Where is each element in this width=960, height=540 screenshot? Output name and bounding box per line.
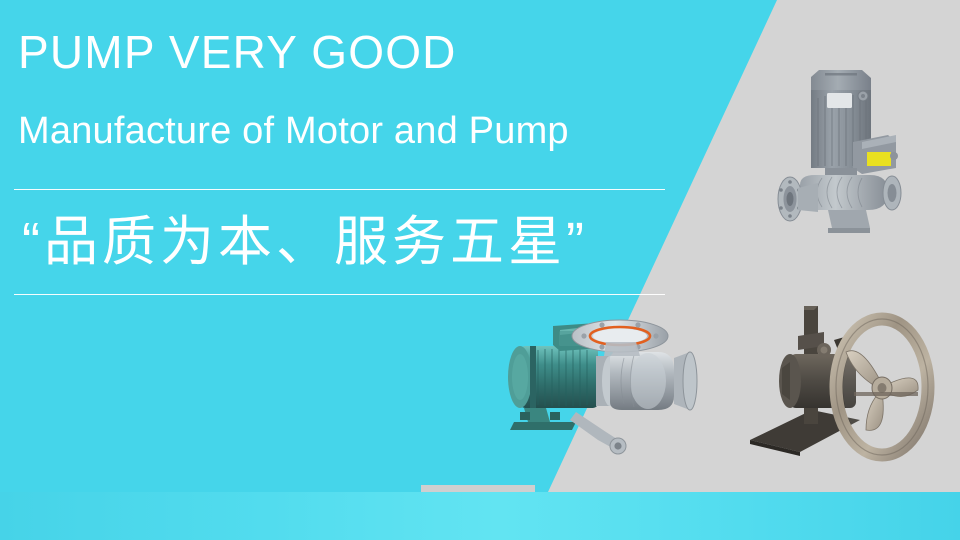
horizontal-centrifugal-pump-image	[498, 300, 713, 465]
vertical-inline-pump-image	[770, 52, 920, 242]
submersible-mixer-image	[742, 292, 947, 464]
bottom-gradient-band	[0, 492, 960, 540]
divider-rule-above-slogan	[14, 189, 665, 190]
product-submersible-mixer	[742, 292, 947, 464]
page-title: PUMP VERY GOOD	[18, 26, 457, 78]
slide-progress-bar[interactable]	[421, 485, 535, 492]
product-inline-pump	[770, 52, 920, 242]
product-horizontal-pump	[498, 300, 713, 465]
page-subtitle: Manufacture of Motor and Pump	[18, 108, 569, 154]
slogan-text: “品质为本、服务五星”	[22, 198, 588, 286]
divider-rule-below-slogan	[14, 294, 665, 295]
promo-banner: PUMP VERY GOOD Manufacture of Motor and …	[0, 0, 960, 540]
